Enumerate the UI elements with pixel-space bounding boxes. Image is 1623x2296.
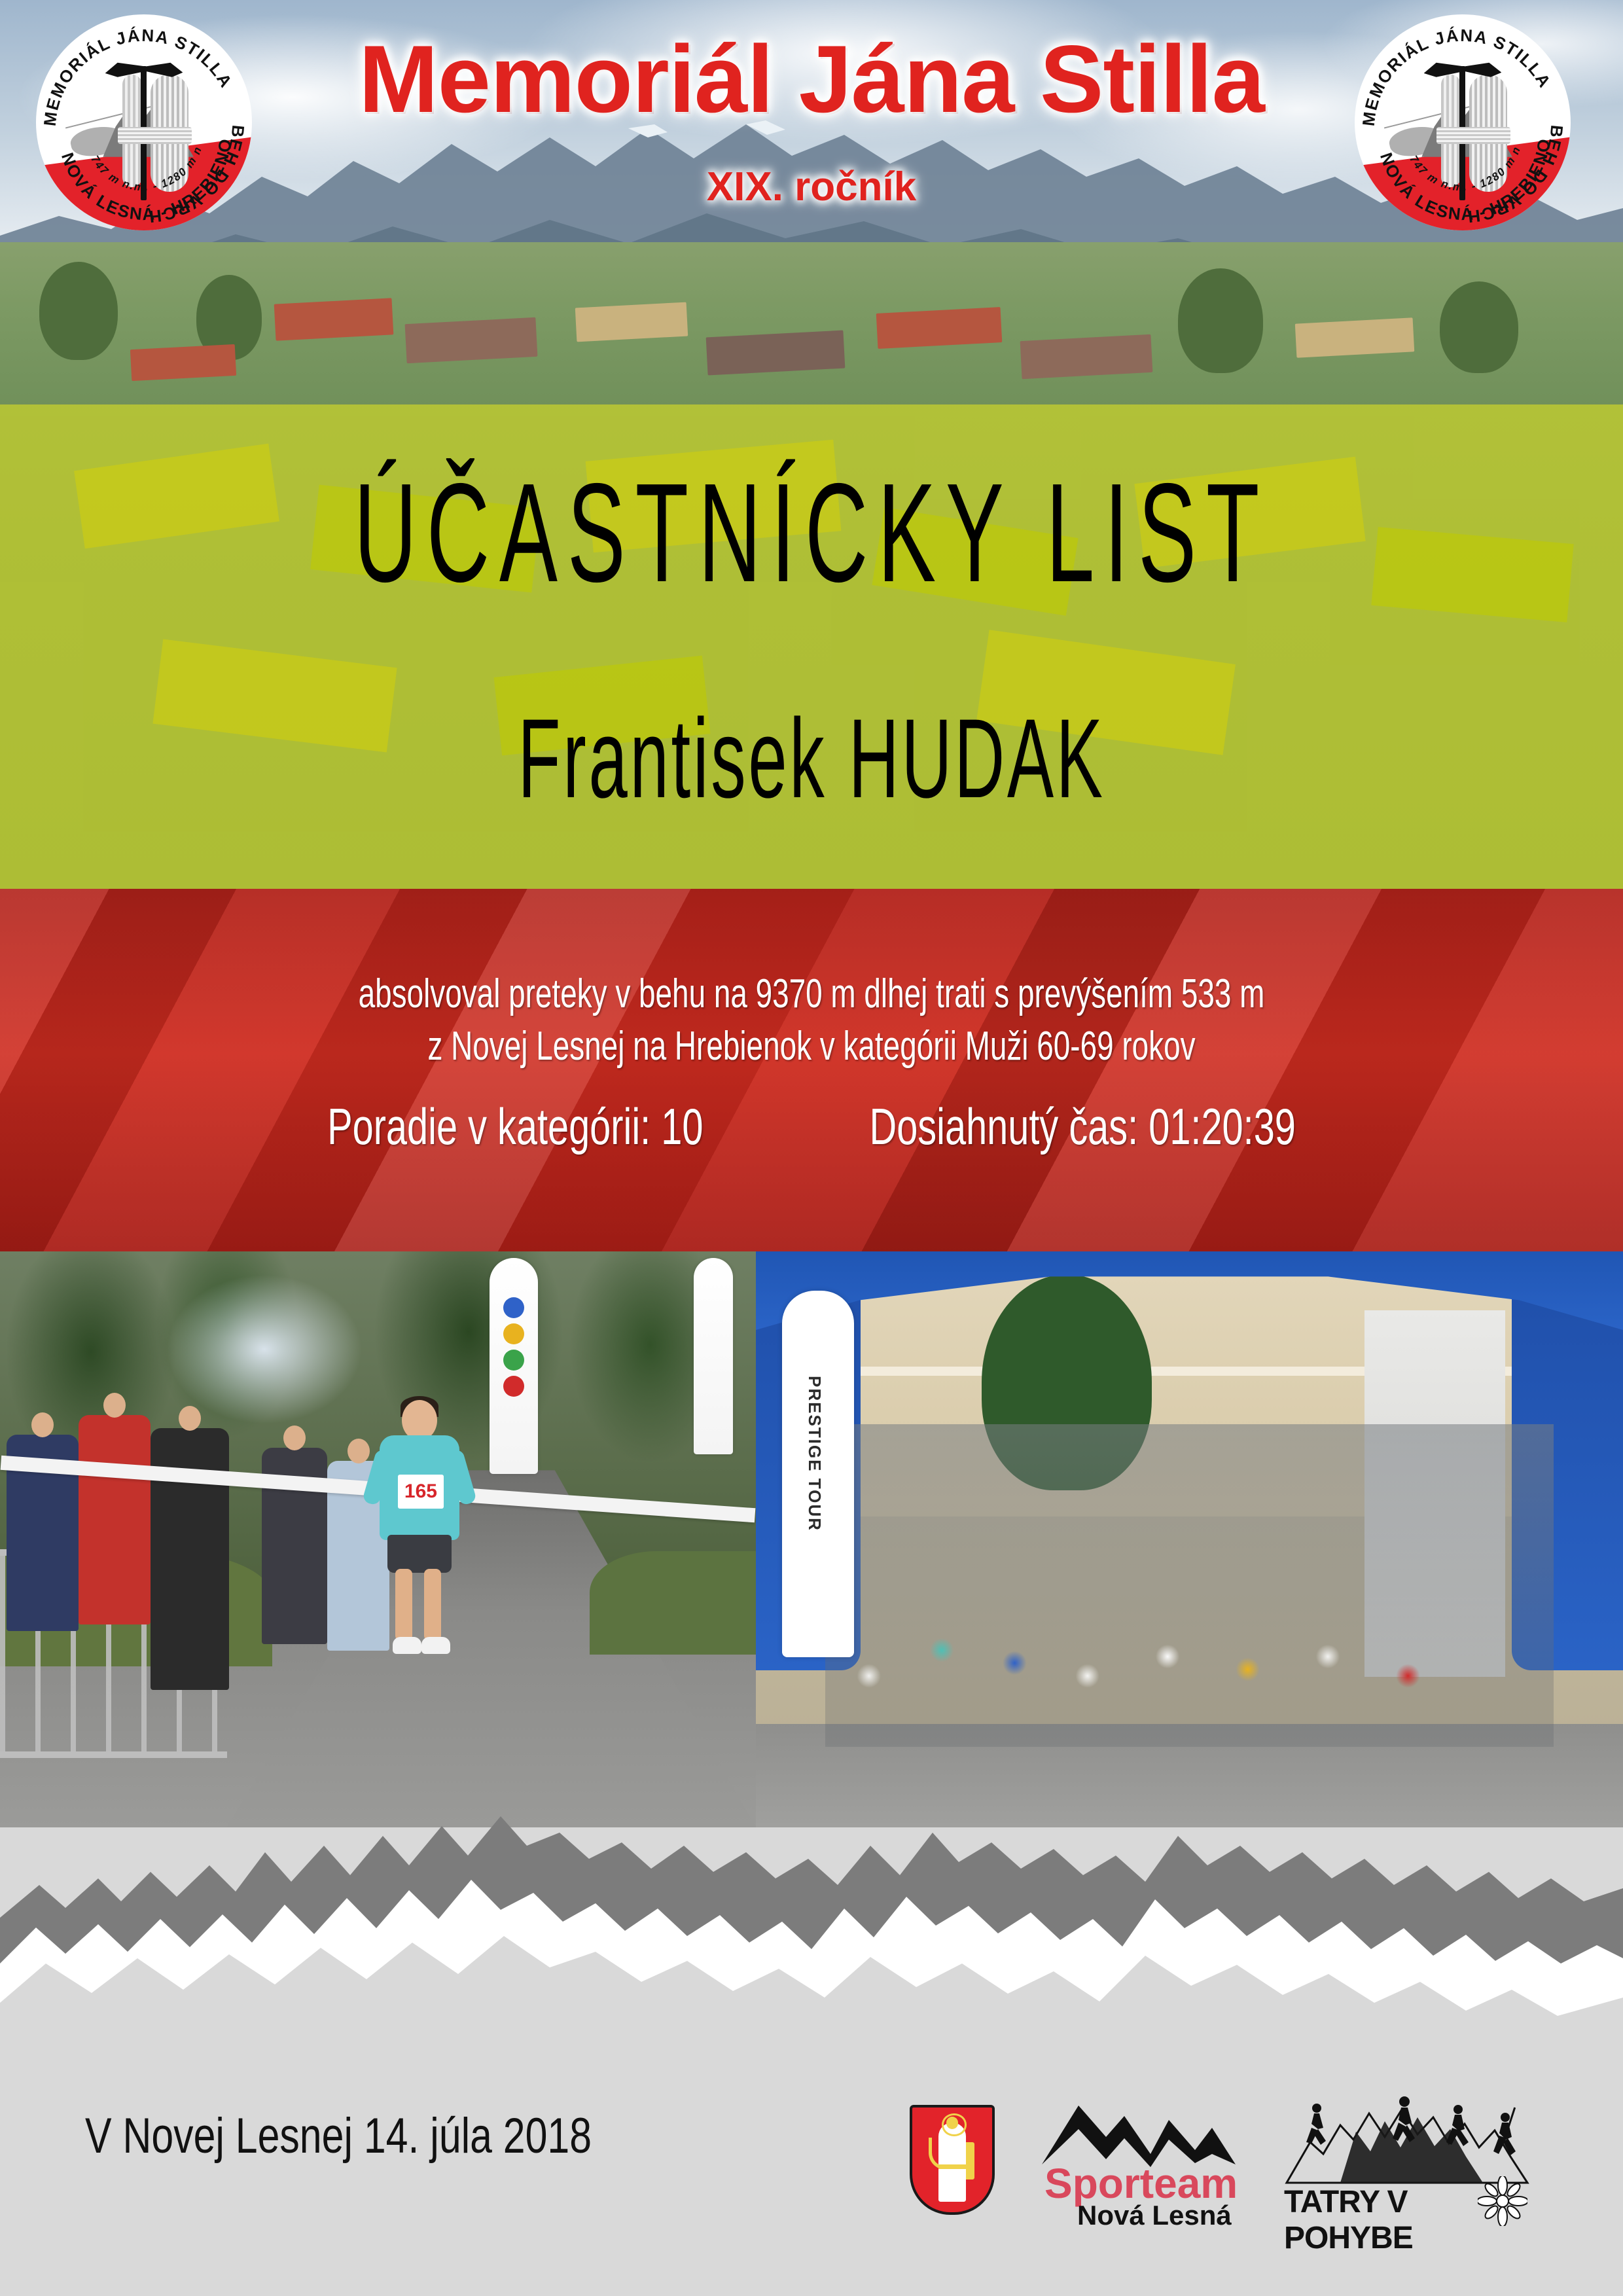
sporteam-logo: Sporteam Nová Lesná [1041,2091,1237,2229]
race-description-line2: z Novej Lesnej na Hrebienok v kategórii … [211,1023,1412,1069]
sky-gap [166,1274,363,1424]
time-value: 01:20:39 [1149,1098,1296,1155]
mass-start-photo: PRESTIGE TOUR [756,1251,1623,1827]
sponsor-beach-flag-2 [694,1258,733,1454]
spectator-head [348,1439,370,1463]
sporteam-subtitle: Nová Lesná [1077,2200,1232,2231]
participant-name: Frantisek HUDAK [308,694,1315,823]
prestige-tour-flag-label: PRESTIGE TOUR [804,1376,825,1532]
prestige-tour-flag: PRESTIGE TOUR [782,1291,854,1657]
nova-lesna-coat-of-arms-logo [910,2105,995,2215]
runner-figure: 165 [370,1390,469,1664]
document-title: ÚČASTNÍCKY LIST [308,452,1315,614]
result-row: Poradie v kategórii: 10 Dosiahnutý čas: … [211,1097,1412,1157]
runner-shoe-left [393,1637,421,1654]
finish-line-photo: 165 [0,1251,756,1827]
event-title: Memoriál Jána Stilla [0,31,1623,127]
race-description-line1: absolvoval preteky v behu na 9370 m dlhe… [211,971,1412,1017]
red-band [0,889,1623,1255]
grass-right [590,1551,756,1655]
runner-leg-right [424,1569,441,1641]
spectator [79,1415,151,1624]
runner-leg-left [395,1569,412,1641]
event-edition: XIX. ročník [0,164,1623,210]
village-photo [0,242,1623,419]
sporteam-mountain-icon [1041,2091,1237,2168]
edelweiss-flower-icon [1478,2176,1527,2226]
figure-head [946,2117,958,2128]
certificate-poster: MEMORIÁL JÁNA STILLA NOVÁ LESNÁ - HREBIE… [0,0,1623,2296]
photo-row: 165 PRESTIGE TOUR [0,1251,1623,1827]
runner-bib-number: 165 [398,1475,444,1509]
rank-value: 10 [661,1098,703,1155]
spectator-head [179,1406,201,1431]
figure-belt [938,2164,966,2169]
runner-shoe-right [421,1637,450,1654]
time-label: Dosiahnutý čas: [870,1098,1139,1155]
rank-group: Poradie v kategórii: 10 [327,1097,703,1157]
runner-shorts [387,1535,452,1573]
spectator-head [31,1412,54,1437]
runner-crowd [825,1424,1554,1747]
sponsor-beach-flag [490,1258,538,1474]
sponsor-logos: Sporteam Nová Lesná TATRY V POHYBE [910,2078,1577,2242]
red-band-texture [0,889,1623,1255]
rank-label: Poradie v kategórii: [327,1098,651,1155]
tatry-v-pohybe-logo: TATRY V POHYBE [1283,2091,1531,2229]
tatry-mountain-runners-icon [1283,2091,1531,2189]
issue-date: V Novej Lesnej 14. júla 2018 [85,2108,592,2164]
runner-head [402,1400,437,1441]
time-group: Dosiahnutý čas: 01:20:39 [870,1097,1296,1157]
spectator-head [103,1393,126,1418]
spectator-head [283,1426,306,1450]
